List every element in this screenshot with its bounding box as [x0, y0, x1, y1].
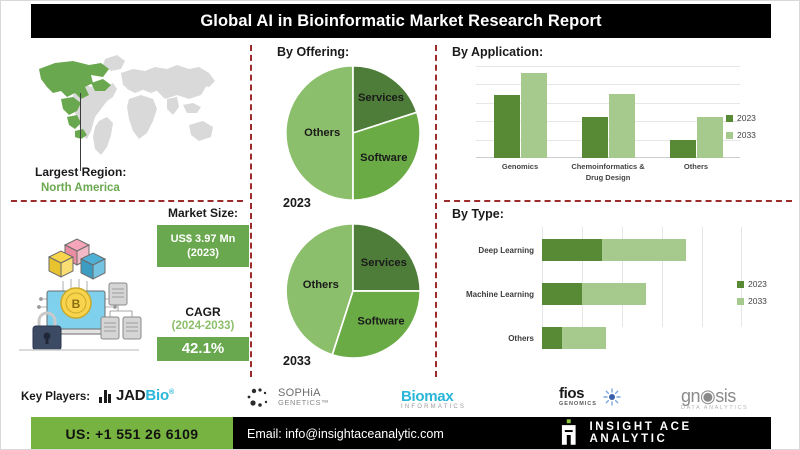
biomax-line2: INFORMATICS — [401, 404, 466, 410]
type-panel: By Type: Deep Learning Machine Learning — [444, 201, 796, 376]
offering-year-2033: 2033 — [283, 354, 311, 368]
column-group-others — [670, 66, 723, 158]
type-row-machine-learning: Machine Learning — [452, 279, 752, 309]
type-row-deep-learning: Deep Learning — [452, 235, 752, 265]
fios-line2: GENOMICS — [559, 401, 597, 407]
market-size-year: (2023) — [159, 246, 247, 260]
fios-burst-icon — [602, 387, 622, 407]
offering-year-2023: 2023 — [283, 196, 311, 210]
offering-title: By Offering: — [277, 45, 349, 59]
sophia-wordmark: SOPHiA GENETICS™ — [278, 388, 329, 408]
application-category-labels: Genomics Chemoinformatics & Drug Design … — [476, 161, 740, 183]
page-title: Global AI in Bioinformatic Market Resear… — [200, 12, 601, 31]
footer-brand: INSIGHT ACE ANALYTIC — [558, 419, 771, 447]
insight-ace-logo-icon — [558, 419, 580, 447]
logo-jadbio: JADBio® — [99, 387, 174, 404]
column-group-chemoinformatics — [582, 66, 635, 158]
application-title: By Application: — [452, 45, 543, 59]
sophia-line2: GENETICS™ — [278, 398, 329, 408]
type-cat-2: Others — [452, 334, 542, 343]
divider-horizontal-left — [11, 200, 243, 202]
sophia-dots-icon — [246, 387, 272, 409]
application-cat-0: Genomics — [479, 161, 561, 183]
bar-chemoinformatics-2033 — [609, 94, 635, 158]
map-pointer-line — [80, 93, 81, 171]
type-legend: 2023 2033 — [737, 279, 767, 313]
bar-others-2033 — [697, 117, 723, 158]
logo-biomax: Biomax INFORMATICS — [401, 388, 466, 410]
bar-others-2023 — [670, 140, 696, 158]
seg-deep-learning-2033 — [602, 239, 686, 261]
type-legend-item-2023: 2023 — [737, 279, 767, 289]
market-size-label: Market Size: — [151, 206, 255, 220]
seg-machine-learning-2033 — [582, 283, 646, 305]
divider-vertical-right — [435, 45, 437, 377]
footer-phone-text: US: +1 551 26 6109 — [66, 426, 199, 442]
type-legend-item-2033: 2033 — [737, 296, 767, 306]
type-legend-label-2023: 2023 — [748, 279, 767, 289]
offering-pie-2023: Services Software Others — [283, 63, 423, 203]
jadbio-part1: JAD — [116, 387, 145, 404]
jadbio-tm: ® — [169, 389, 174, 396]
seg-others-2033 — [562, 327, 606, 349]
offering-pie-2033: Services Software Others — [283, 221, 423, 361]
logo-sophia-genetics: SOPHiA GENETICS™ — [246, 387, 329, 409]
cube-blue — [81, 253, 105, 279]
type-cat-1: Machine Learning — [452, 290, 542, 299]
footer-phone-bar[interactable]: US: +1 551 26 6109 — [31, 417, 233, 450]
fios-wordmark: fios GENOMICS — [559, 387, 597, 407]
legend-label-2023: 2023 — [737, 113, 756, 123]
market-size-box: US$ 3.97 Mn (2023) — [157, 225, 249, 267]
type-cat-0: Deep Learning — [452, 246, 542, 255]
pie-2023-label-services: Services — [358, 92, 404, 104]
application-cat-2: Others — [655, 161, 737, 183]
stats-panel: Market Size: US$ 3.97 Mn (2023) CAGR (20… — [151, 206, 255, 366]
largest-region-label: Largest Region: — [35, 165, 126, 179]
fios-line1: fios — [559, 387, 597, 401]
cagr-value-box: 42.1% — [157, 337, 249, 361]
column-group-genomics — [494, 66, 547, 158]
infographic-root: Global AI in Bioinformatic Market Resear… — [0, 0, 800, 450]
pie-2023-label-software: Software — [360, 152, 407, 164]
sophia-line1: SOPHiA — [278, 388, 329, 398]
gnosis-line1: gn◉sis — [681, 387, 748, 405]
bar-genomics-2023 — [494, 95, 520, 158]
type-rows: Deep Learning Machine Learning Others — [452, 235, 752, 367]
legend-item-2033: 2033 — [726, 130, 756, 140]
logo-fios-genomics: fios GENOMICS — [559, 387, 622, 407]
footer-email-bar: Email: info@insightaceanalytic.com INSIG… — [233, 417, 771, 450]
footer-email-text[interactable]: Email: info@insightaceanalytic.com — [247, 427, 444, 441]
footer-brand-text: INSIGHT ACE ANALYTIC — [590, 421, 771, 445]
seg-machine-learning-2023 — [542, 283, 582, 305]
bar-genomics-2033 — [521, 73, 547, 158]
seg-deep-learning-2023 — [542, 239, 602, 261]
jadbio-bars-icon — [99, 388, 111, 403]
seg-others-2023 — [542, 327, 562, 349]
type-legend-swatch-2023 — [737, 281, 744, 288]
gnosis-line2: DATA ANALYTICS — [681, 405, 748, 411]
map-panel: Largest Region: North America — [9, 43, 241, 193]
market-size-value: US$ 3.97 Mn — [159, 232, 247, 246]
type-row-others: Others — [452, 323, 752, 353]
cube-yellow — [49, 251, 73, 277]
type-legend-label-2033: 2033 — [748, 296, 767, 306]
type-legend-swatch-2033 — [737, 298, 744, 305]
bar-chemoinformatics-2023 — [582, 117, 608, 158]
footer: US: +1 551 26 6109 Email: info@insightac… — [1, 417, 800, 450]
cagr-label: CAGR — [151, 305, 255, 319]
cagr-group: CAGR (2024-2033) 42.1% — [151, 305, 255, 361]
legend-swatch-2033 — [726, 132, 733, 139]
legend-label-2033: 2033 — [737, 130, 756, 140]
legend-item-2023: 2023 — [726, 113, 756, 123]
world-map-icon — [21, 43, 229, 163]
key-players-label: Key Players: — [21, 391, 90, 403]
application-legend: 2023 2033 — [726, 113, 756, 147]
pie-2033-label-others: Others — [303, 279, 339, 291]
application-plot — [476, 66, 740, 158]
pie-2023-label-others: Others — [304, 127, 340, 139]
ai-technology-illustration: B — [13, 223, 143, 358]
logo-gnosis: gn◉sis DATA ANALYTICS — [681, 387, 748, 411]
jadbio-wordmark: JADBio® — [116, 387, 174, 404]
pie-2033-label-services: Services — [361, 257, 407, 269]
cagr-period: (2024-2033) — [151, 320, 255, 332]
jadbio-part2: Bio — [145, 387, 169, 404]
application-cat-1: Chemoinformatics & Drug Design — [567, 161, 649, 183]
pie-2033-label-software: Software — [357, 316, 404, 328]
type-title: By Type: — [452, 207, 504, 221]
biomax-line1: Biomax — [401, 388, 466, 405]
key-players-row: Key Players: JADBio® SOPHiA GENETICS™ — [1, 379, 800, 417]
header-bar: Global AI in Bioinformatic Market Resear… — [31, 4, 771, 38]
offering-panel: By Offering: Services Software Others 20… — [259, 41, 435, 376]
application-panel: By Application: — [444, 41, 796, 191]
legend-swatch-2023 — [726, 115, 733, 122]
largest-region-value: North America — [41, 182, 120, 194]
svg-text:B: B — [72, 297, 81, 311]
